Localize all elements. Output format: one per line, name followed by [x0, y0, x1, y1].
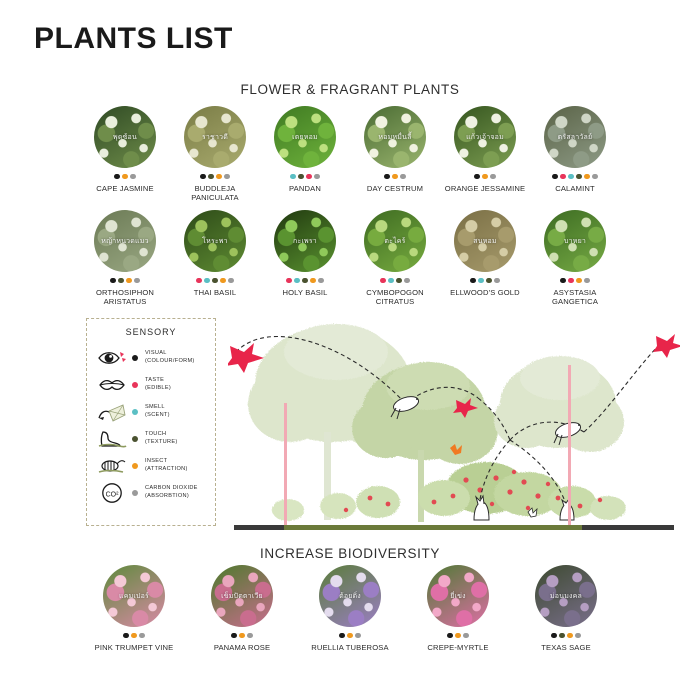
sensory-legend-item: CO²CARBON DIOXIDE(ABSORBTION): [93, 479, 209, 506]
orthosiphon-photo[interactable]: หญ้าหนวดแมว: [94, 210, 156, 272]
sensory-dot: [126, 278, 132, 284]
cape-jasmine-photo[interactable]: พุดซ้อน: [94, 106, 156, 168]
plant-name-label: CYMBOPOGON CITRATUS: [354, 288, 436, 306]
sensory-dot: [224, 174, 230, 180]
sensory-dot: [294, 278, 300, 284]
sensory-dot: [298, 174, 304, 180]
sensory-dot: [216, 174, 222, 180]
calamint-photo[interactable]: ตรัสลาวัลย์: [544, 106, 606, 168]
sensory-legend-item: TASTE(EDIBLE): [93, 371, 209, 398]
sensory-dot: [231, 633, 237, 639]
plant-thai-name: เข็มปัตตาเวีย: [221, 591, 263, 602]
biodiversity-illustration: [228, 312, 680, 534]
sensory-legend-secondary: (ATTRACTION): [145, 466, 188, 473]
trunk-mid: [418, 450, 424, 522]
sensory-dot-row: [384, 173, 406, 180]
plant-thai-name: เตยหอม: [292, 132, 318, 143]
sensory-dot: [400, 174, 406, 180]
sensory-legend-panel: SENSORY VISUAL(COLOUR/FORM)TASTE(EDIBLE)…: [86, 318, 216, 526]
sensory-dot: [302, 278, 308, 284]
sensory-legend-dot: [132, 382, 138, 388]
sensory-dot-row: [114, 173, 136, 180]
sensory-legend-primary: SMELL: [145, 404, 170, 411]
plant-thai-name: ม่อนมงคล: [550, 591, 582, 602]
sensory-dot: [567, 633, 573, 639]
sensory-dot-row: [196, 277, 234, 284]
sensory-dot: [196, 278, 202, 284]
sensory-dot: [310, 278, 316, 284]
sensory-dot: [347, 633, 353, 639]
cymbopogon-photo[interactable]: ตะไคร้: [364, 210, 426, 272]
sensory-dot-row: [231, 632, 253, 639]
sensory-dot-row: [552, 173, 598, 180]
texas-sage-photo[interactable]: ม่อนมงคล: [535, 565, 597, 627]
sensory-dot: [474, 174, 480, 180]
plant-card[interactable]: แคมเปอร์PINK TRUMPET VINE: [86, 565, 182, 652]
sensory-dot: [306, 174, 312, 180]
sensory-dot: [204, 278, 210, 284]
plant-name-label: CALAMINT: [555, 184, 595, 193]
sensory-dot: [490, 174, 496, 180]
plant-card[interactable]: พุดซ้อนCAPE JASMINE: [84, 106, 166, 193]
plant-card[interactable]: ม่อนมงคลTEXAS SAGE: [518, 565, 614, 652]
sensory-dot-row: [474, 173, 496, 180]
sensory-dot-row: [447, 632, 469, 639]
sensory-dot: [131, 633, 137, 639]
plant-row-flower-1: พุดซ้อนCAPE JASMINEราชาวดีBUDDLEJA PANIC…: [0, 106, 700, 202]
plant-thai-name: กะเพรา: [293, 236, 317, 247]
plant-thai-name: ยี่เข่ง: [450, 591, 466, 602]
sensory-legend-primary: CARBON DIOXIDE: [145, 485, 198, 492]
foot-icon: [95, 427, 129, 451]
plant-card[interactable]: สนหอมELLWOOD'S GOLD: [444, 210, 526, 297]
sensory-dot: [560, 174, 566, 180]
day-cestrum-photo[interactable]: หอมหมื่นลี้: [364, 106, 426, 168]
plant-card[interactable]: ต้อยติ่งRUELLIA TUBEROSA: [302, 565, 398, 652]
sensory-dot: [220, 278, 226, 284]
plant-thai-name: พุดซ้อน: [113, 132, 137, 143]
holy-basil-photo[interactable]: กะเพรา: [274, 210, 336, 272]
plant-name-label: ORTHOSIPHON ARISTATUS: [84, 288, 166, 306]
plant-thai-name: หอมหมื่นลี้: [378, 132, 411, 143]
svg-text:CO²: CO²: [106, 491, 120, 498]
sensory-legend-item: SMELL(SCENT): [93, 398, 209, 425]
sensory-dot: [380, 278, 386, 284]
sensory-dot-row: [339, 632, 361, 639]
plant-name-label: DAY CESTRUM: [367, 184, 423, 193]
sensory-dot: [110, 278, 116, 284]
sensory-legend-dot: [132, 463, 138, 469]
sensory-dot: [494, 278, 500, 284]
co2-icon: CO²: [95, 481, 129, 505]
sensory-legend-text: VISUAL(COLOUR/FORM): [145, 350, 195, 364]
plant-name-label: ORANGE JESSAMINE: [445, 184, 525, 193]
sensory-dot: [339, 633, 345, 639]
sensory-dot-row: [200, 173, 230, 180]
plant-name-label: PANDAN: [289, 184, 321, 193]
sensory-legend-dot: [132, 355, 138, 361]
sensory-legend-secondary: (TEXTURE): [145, 439, 178, 446]
sensory-dot: [447, 633, 453, 639]
sensory-legend-item: TOUCH(TEXTURE): [93, 425, 209, 452]
buddleja-photo[interactable]: ราชาวดี: [184, 106, 246, 168]
bird-red-right: [653, 334, 680, 358]
plant-name-label: CAPE JASMINE: [96, 184, 154, 193]
plant-card[interactable]: หญ้าหนวดแมวORTHOSIPHON ARISTATUS: [84, 210, 166, 306]
sensory-dot: [318, 278, 324, 284]
sensory-dot-row: [560, 277, 590, 284]
sensory-dot: [575, 633, 581, 639]
plant-name-label: ASYSTASIA GANGETICA: [534, 288, 616, 306]
plant-card[interactable]: ราชาวดีBUDDLEJA PANICULATA: [174, 106, 256, 202]
ground-line-dark-right: [582, 525, 674, 530]
sensory-dot: [290, 174, 296, 180]
sensory-dot: [118, 278, 124, 284]
sensory-dot: [228, 278, 234, 284]
sensory-dot: [114, 174, 120, 180]
plant-name-label: RUELLIA TUBEROSA: [311, 643, 388, 652]
plant-name-label: THAI BASIL: [194, 288, 236, 297]
plant-row-flower-2: หญ้าหนวดแมวORTHOSIPHON ARISTATUSโหระพาTH…: [0, 210, 700, 306]
ellwoods-gold-photo[interactable]: สนหอม: [454, 210, 516, 272]
section-heading-biodiversity: INCREASE BIODIVERSITY: [0, 546, 700, 561]
insect-icon: [95, 454, 129, 478]
sensory-dot: [212, 278, 218, 284]
plant-thai-name: แคมเปอร์: [119, 591, 149, 602]
plant-card[interactable]: เข็มปัตตาเวียPANAMA ROSE: [194, 565, 290, 652]
plant-name-label: BUDDLEJA PANICULATA: [174, 184, 256, 202]
sensory-dot: [576, 278, 582, 284]
thai-basil-photo[interactable]: โหระพา: [184, 210, 246, 272]
plant-name-label: TEXAS SAGE: [541, 643, 591, 652]
sensory-dot: [286, 278, 292, 284]
pole-right: [568, 365, 571, 525]
plant-thai-name: โหระพา: [202, 236, 228, 247]
sensory-dot: [208, 174, 214, 180]
pink-trumpet-vine-photo[interactable]: แคมเปอร์: [103, 565, 165, 627]
sensory-legend-primary: VISUAL: [145, 350, 195, 357]
eye-icon: [95, 346, 129, 370]
sensory-legend-secondary: (COLOUR/FORM): [145, 358, 195, 365]
sensory-dot: [559, 633, 565, 639]
ground-line-dark-left: [234, 525, 284, 530]
plant-card[interactable]: บาหยาASYSTASIA GANGETICA: [534, 210, 616, 306]
crepe-myrtle-photo[interactable]: ยี่เข่ง: [427, 565, 489, 627]
sensory-legend-item: VISUAL(COLOUR/FORM): [93, 344, 209, 371]
plant-thai-name: ตรัสลาวัลย์: [558, 132, 593, 143]
sensory-dot: [552, 174, 558, 180]
sensory-dot: [482, 174, 488, 180]
sensory-legend-primary: TOUCH: [145, 431, 178, 438]
sensory-dot: [470, 278, 476, 284]
sensory-dot: [584, 174, 590, 180]
sensory-dot: [200, 174, 206, 180]
canopy-right: [494, 356, 624, 452]
sensory-dot: [396, 278, 402, 284]
plant-name-label: PINK TRUMPET VINE: [95, 643, 174, 652]
asystasia-photo[interactable]: บาหยา: [544, 210, 606, 272]
scene-vector: [228, 312, 680, 534]
sensory-dot: [123, 633, 129, 639]
panama-rose-photo[interactable]: เข็มปัตตาเวีย: [211, 565, 273, 627]
sensory-dot: [551, 633, 557, 639]
sensory-legend-item: INSECT(ATTRACTION): [93, 452, 209, 479]
sensory-dot-row: [123, 632, 145, 639]
ruellia-tuberosa-photo[interactable]: ต้อยติ่ง: [319, 565, 381, 627]
sensory-dot: [139, 633, 145, 639]
sensory-dot: [355, 633, 361, 639]
plant-card[interactable]: ตรัสลาวัลย์CALAMINT: [534, 106, 616, 193]
sensory-legend-text: TASTE(EDIBLE): [145, 377, 171, 391]
sensory-dot: [486, 278, 492, 284]
sensory-dot: [122, 174, 128, 180]
sensory-dot-row: [110, 277, 140, 284]
sensory-legend-text: CARBON DIOXIDE(ABSORBTION): [145, 485, 198, 499]
sensory-legend-primary: TASTE: [145, 377, 171, 384]
sensory-dot-row: [380, 277, 410, 284]
plant-thai-name: ต้อยติ่ง: [339, 591, 361, 602]
plant-thai-name: สนหอม: [473, 236, 497, 247]
sensory-dot: [130, 174, 136, 180]
plant-name-label: CREPE-MYRTLE: [427, 643, 488, 652]
sensory-legend-secondary: (SCENT): [145, 412, 170, 419]
plant-thai-name: ราชาวดี: [202, 132, 228, 143]
sensory-dot: [584, 278, 590, 284]
plant-thai-name: หญ้าหนวดแมว: [101, 236, 148, 247]
sensory-dot: [247, 633, 253, 639]
sensory-dot: [455, 633, 461, 639]
sensory-legend-secondary: (ABSORBTION): [145, 493, 198, 500]
sensory-legend-dot: [132, 409, 138, 415]
sensory-dot: [463, 633, 469, 639]
pole-left: [284, 403, 287, 525]
sensory-dot: [568, 174, 574, 180]
sensory-dot: [560, 278, 566, 284]
nose-icon: [95, 400, 129, 424]
lips-icon: [95, 373, 129, 397]
plant-card[interactable]: ตะไคร้CYMBOPOGON CITRATUS: [354, 210, 436, 306]
sensory-dot: [388, 278, 394, 284]
section-heading-flower: FLOWER & FRAGRANT PLANTS: [0, 82, 700, 97]
plant-name-label: ELLWOOD'S GOLD: [450, 288, 520, 297]
sensory-legend-primary: INSECT: [145, 458, 188, 465]
sensory-legend-text: INSECT(ATTRACTION): [145, 458, 188, 472]
plant-card[interactable]: ยี่เข่งCREPE-MYRTLE: [410, 565, 506, 652]
sensory-dot: [134, 278, 140, 284]
sensory-dot: [576, 174, 582, 180]
orange-jessamine-photo[interactable]: แก้วเจ้าจอม: [454, 106, 516, 168]
plant-thai-name: แก้วเจ้าจอม: [466, 132, 504, 143]
sensory-legend-text: TOUCH(TEXTURE): [145, 431, 178, 445]
plant-row-biodiversity: แคมเปอร์PINK TRUMPET VINEเข็มปัตตาเวียPA…: [0, 565, 700, 652]
plant-card[interactable]: แก้วเจ้าจอมORANGE JESSAMINE: [444, 106, 526, 193]
ground-line-green: [284, 525, 582, 530]
plant-thai-name: ตะไคร้: [384, 236, 405, 247]
plant-card[interactable]: เตยหอมPANDAN: [264, 106, 346, 193]
sensory-legend-list: VISUAL(COLOUR/FORM)TASTE(EDIBLE)SMELL(SC…: [93, 344, 209, 506]
plant-card[interactable]: โหระพาTHAI BASIL: [174, 210, 256, 297]
page-title: PLANTS LIST: [34, 22, 233, 56]
sensory-dot-row: [286, 277, 324, 284]
sensory-dot: [568, 278, 574, 284]
sensory-legend-title: SENSORY: [93, 327, 209, 337]
plant-name-label: HOLY BASIL: [282, 288, 327, 297]
sensory-dot-row: [551, 632, 581, 639]
pandan-photo[interactable]: เตยหอม: [274, 106, 336, 168]
sensory-dot: [384, 174, 390, 180]
sensory-dot: [592, 174, 598, 180]
sensory-dot: [239, 633, 245, 639]
sensory-dot: [314, 174, 320, 180]
sensory-dot-row: [470, 277, 500, 284]
sensory-legend-dot: [132, 490, 138, 496]
plant-thai-name: บาหยา: [564, 236, 586, 247]
sensory-legend-secondary: (EDIBLE): [145, 385, 171, 392]
sensory-dot: [478, 278, 484, 284]
plant-name-label: PANAMA ROSE: [214, 643, 270, 652]
sensory-legend-dot: [132, 436, 138, 442]
plant-card[interactable]: หอมหมื่นลี้DAY CESTRUM: [354, 106, 436, 193]
sensory-legend-text: SMELL(SCENT): [145, 404, 170, 418]
sensory-dot: [392, 174, 398, 180]
sensory-dot-row: [290, 173, 320, 180]
sensory-dot: [404, 278, 410, 284]
plant-card[interactable]: กะเพราHOLY BASIL: [264, 210, 346, 297]
